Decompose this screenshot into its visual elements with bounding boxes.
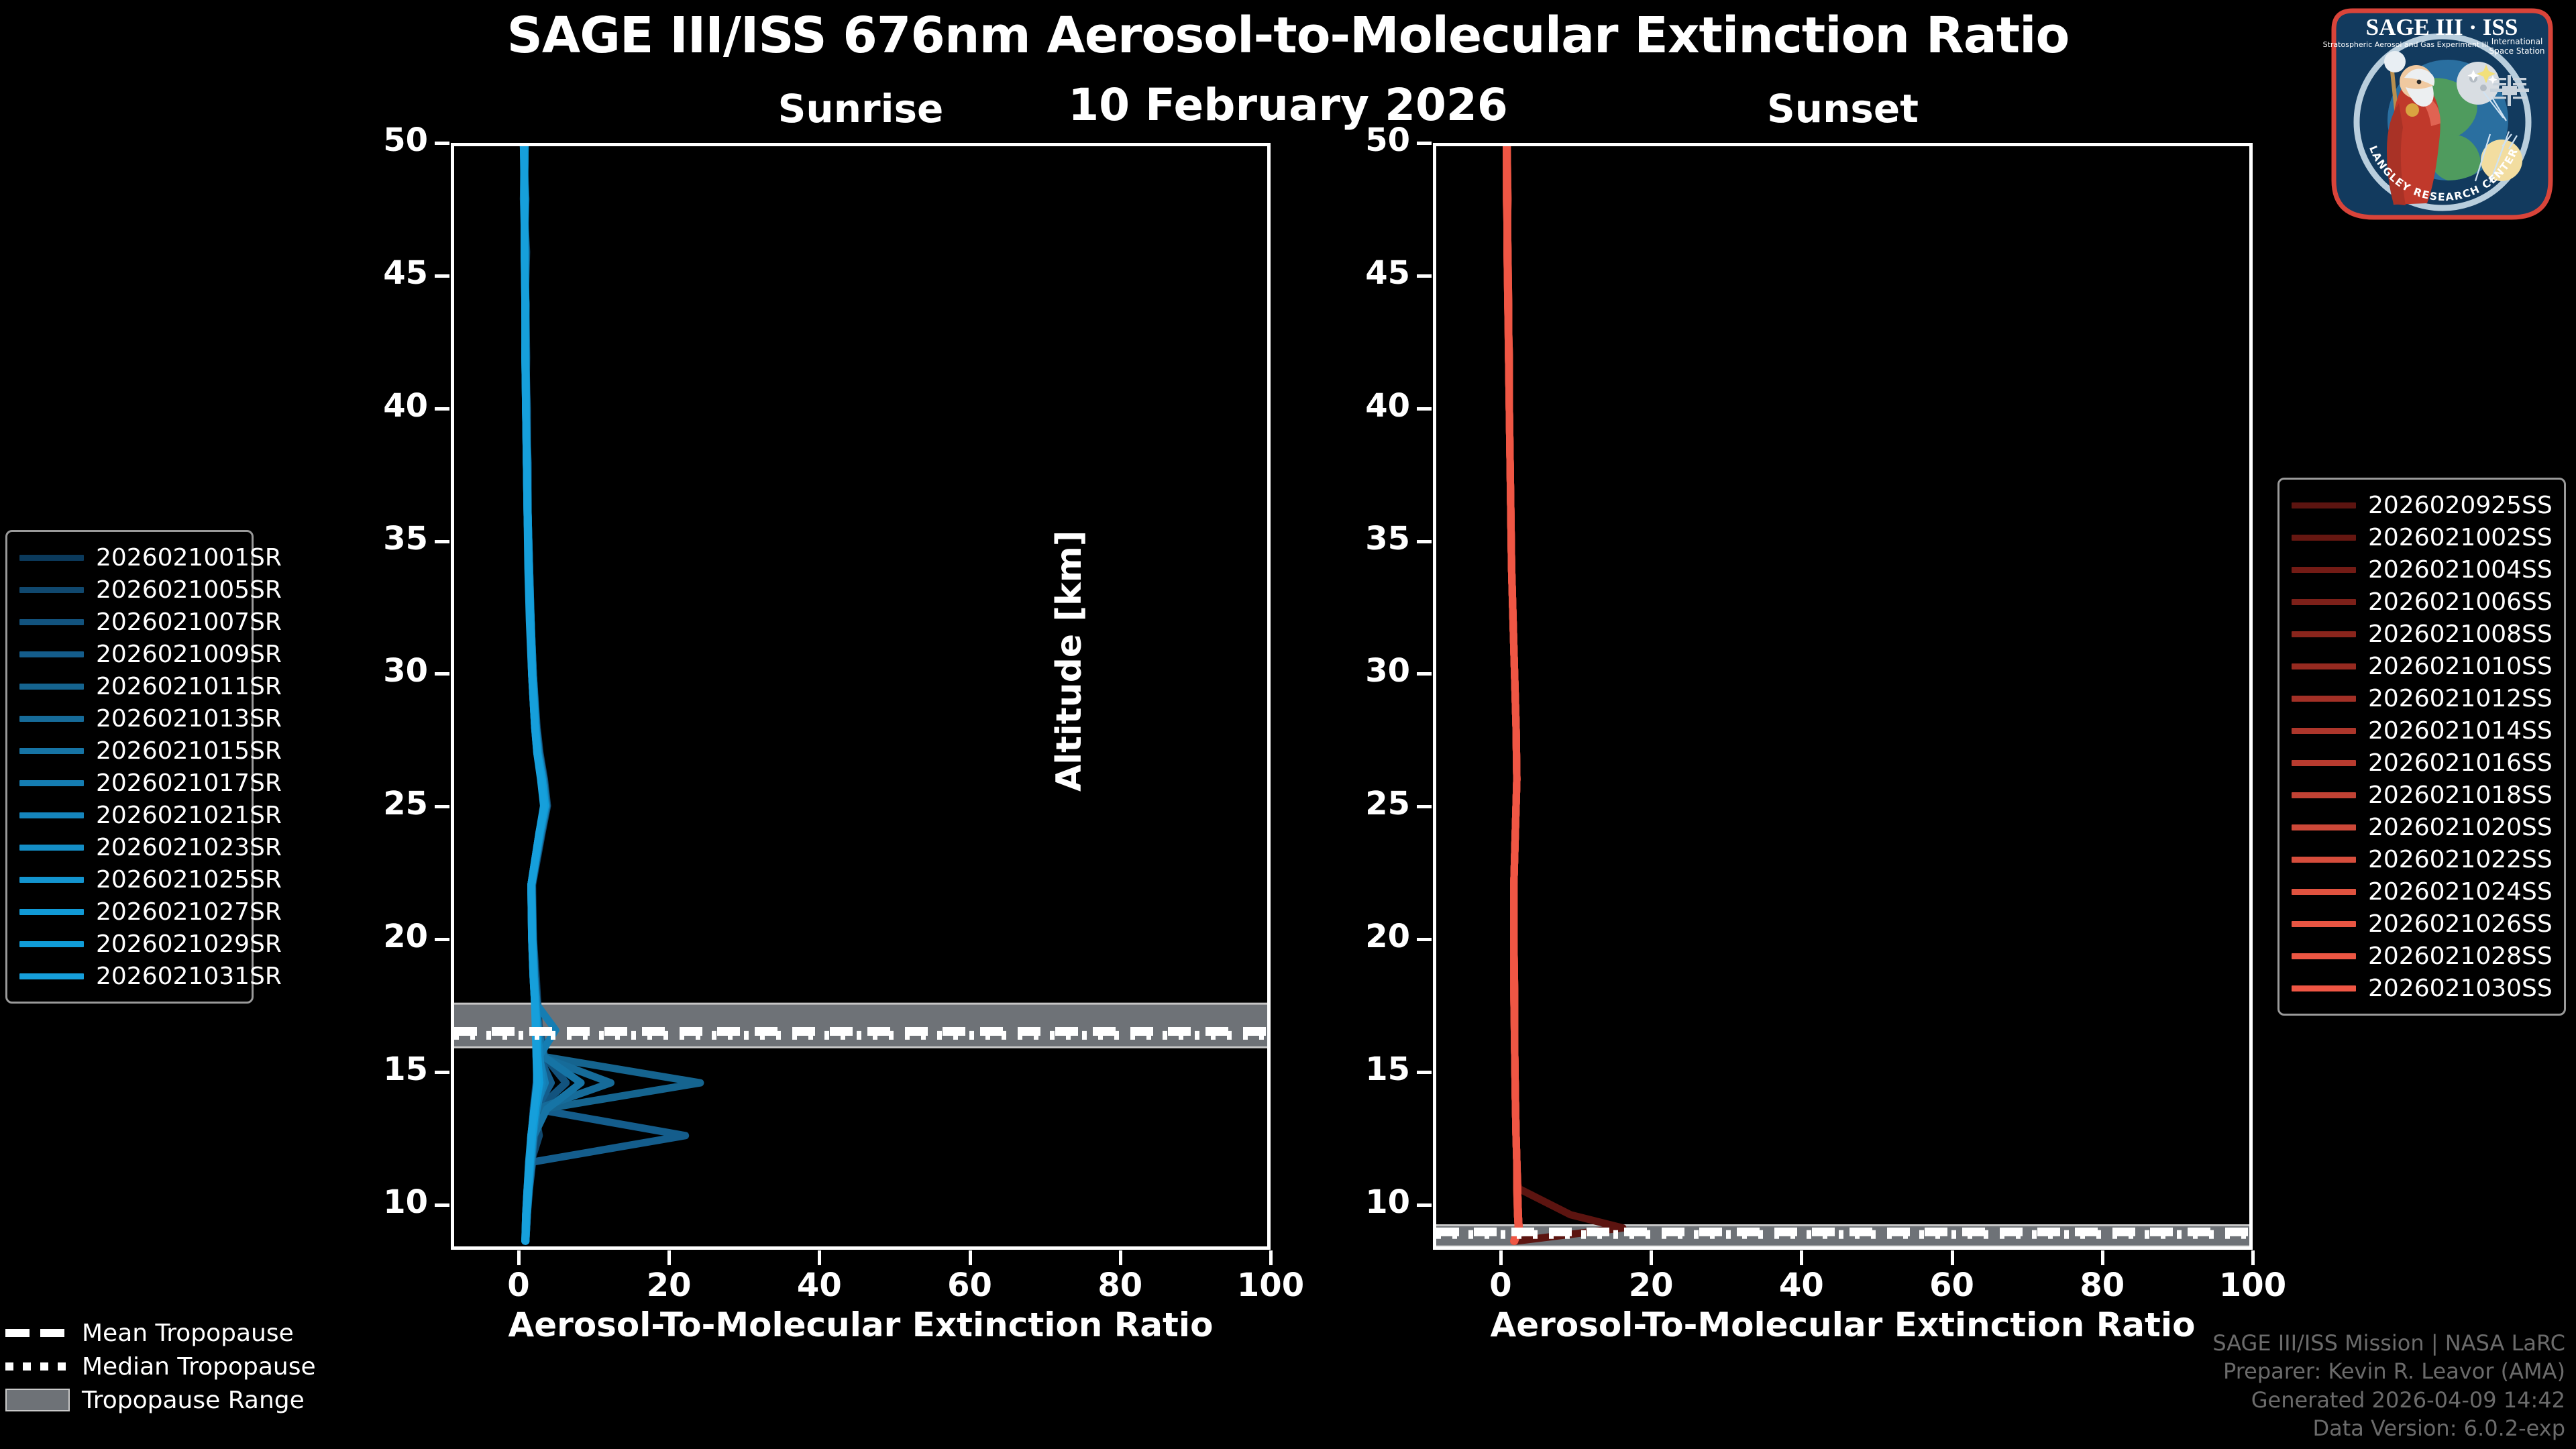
legend-row: 2026021006SS (2292, 586, 2552, 618)
legend-color-swatch (19, 587, 84, 593)
legend-color-swatch (2292, 696, 2356, 702)
range-swatch-icon (5, 1389, 70, 1411)
legend-color-swatch (2292, 535, 2356, 541)
tropopause-range-band (454, 1004, 1267, 1047)
legend-row: 2026021009SR (19, 638, 239, 670)
legend-row: 2026021015SR (19, 735, 239, 767)
y-axis-tick-mark (435, 672, 449, 676)
legend-row: 2026021031SR (19, 960, 239, 992)
legend-label-tropopause-range: Tropopause Range (82, 1387, 305, 1414)
legend-row: 2026021020SS (2292, 811, 2552, 843)
y-axis-tick-label: 50 (1309, 121, 1410, 159)
legend-color-swatch (2292, 567, 2356, 573)
footer-line-version: Data Version: 6.0.2-exp (2212, 1414, 2565, 1442)
legend-color-swatch (2292, 824, 2356, 830)
legend-row: 2026021011SR (19, 670, 239, 702)
legend-event-label: 2026021012SS (2368, 685, 2553, 712)
legend-color-swatch (19, 651, 84, 657)
legend-event-label: 2026021022SS (2368, 846, 2553, 873)
y-axis-tick-label: 10 (1309, 1183, 1410, 1221)
legend-event-label: 2026021011SR (96, 673, 282, 700)
legend-row: 2026021016SS (2292, 747, 2552, 779)
legend-event-label: 2026021031SR (96, 963, 282, 990)
y-axis-tick-mark (435, 407, 449, 411)
y-axis-tick-mark (435, 1203, 449, 1207)
x-axis-tick-label: 60 (1898, 1267, 2006, 1304)
legend-event-label: 2026021006SS (2368, 588, 2553, 616)
legend-color-swatch (2292, 663, 2356, 669)
legend-row: 2026021028SS (2292, 940, 2552, 972)
y-axis-tick-label: 20 (1309, 918, 1410, 955)
footer-line-preparer: Preparer: Kevin R. Leavor (AMA) (2212, 1357, 2565, 1385)
x-axis-tick-mark (1650, 1250, 1653, 1265)
page-title: SAGE III/ISS 676nm Aerosol-to-Molecular … (0, 7, 2576, 64)
legend-event-label: 2026021017SR (96, 769, 282, 797)
legend-color-swatch (19, 877, 84, 883)
legend-row: 2026021022SS (2292, 843, 2552, 875)
y-axis-tick-label: 40 (327, 387, 428, 425)
legend-event-label: 2026021018SS (2368, 782, 2553, 809)
legend-color-swatch (2292, 953, 2356, 959)
legend-row-tropopause-range: Tropopause Range (5, 1383, 294, 1417)
x-axis-tick-mark (1951, 1250, 1954, 1265)
legend-row: 2026021007SR (19, 606, 239, 638)
legend-color-swatch (19, 941, 84, 947)
footer-credits: SAGE III/ISS Mission | NASA LaRC Prepare… (2212, 1329, 2565, 1442)
sunset-plot-area (1433, 143, 2253, 1250)
legend-event-label: 2026021004SS (2368, 556, 2553, 584)
legend-row: 2026021018SS (2292, 779, 2552, 811)
x-axis-tick-label: 20 (615, 1267, 722, 1304)
legend-color-swatch (2292, 728, 2356, 734)
legend-event-label: 2026021023SR (96, 834, 282, 861)
y-axis-tick-mark (1417, 1071, 1432, 1074)
legend-event-label: 2026021025SR (96, 866, 282, 894)
x-axis-tick-label: 40 (765, 1267, 873, 1304)
x-axis-tick-mark (1119, 1250, 1122, 1265)
x-axis-tick-label: 0 (1447, 1267, 1554, 1304)
y-axis-tick-mark (1417, 274, 1432, 278)
y-axis-tick-label: 10 (327, 1183, 428, 1221)
legend-color-swatch (2292, 857, 2356, 863)
svg-text:International: International (2491, 37, 2543, 46)
sunset-panel-title: Sunset (1433, 86, 2253, 131)
legend-label-mean-tropopause: Mean Tropopause (82, 1320, 294, 1347)
legend-event-label: 2026021020SS (2368, 814, 2553, 841)
y-axis-tick-mark (1417, 672, 1432, 676)
legend-row: 2026021025SR (19, 863, 239, 896)
legend-color-swatch (19, 716, 84, 722)
legend-event-label: 2026021001SR (96, 544, 282, 572)
legend-row: 2026021008SS (2292, 618, 2552, 650)
legend-color-swatch (2292, 502, 2356, 508)
tropopause-legend: Mean Tropopause Median Tropopause Tropop… (5, 1316, 294, 1417)
legend-event-label: 2026021021SR (96, 802, 282, 829)
x-axis-tick-mark (1800, 1250, 1803, 1265)
sunset-y-axis-label: Altitude [km] (1049, 537, 1089, 792)
legend-color-swatch (19, 909, 84, 915)
legend-color-swatch (2292, 921, 2356, 927)
x-axis-tick-mark (818, 1250, 821, 1265)
y-axis-tick-mark (435, 274, 449, 278)
logo-subtitle-left: Stratospheric Aerosol and Gas Experiment… (2323, 40, 2489, 49)
legend-event-label: 2026021009SR (96, 641, 282, 668)
legend-event-label: 2026021015SR (96, 737, 282, 765)
x-axis-tick-mark (969, 1250, 972, 1265)
legend-event-label: 2026021028SS (2368, 943, 2553, 970)
footer-line-generated: Generated 2026-04-09 14:42 (2212, 1386, 2565, 1414)
x-axis-tick-mark (517, 1250, 521, 1265)
legend-event-label: 2026021013SR (96, 705, 282, 733)
legend-row-median-tropopause: Median Tropopause (5, 1350, 294, 1383)
x-axis-tick-label: 0 (465, 1267, 572, 1304)
x-axis-tick-label: 20 (1597, 1267, 1705, 1304)
legend-event-label: 2026021016SS (2368, 749, 2553, 777)
legend-event-label: 2026021010SS (2368, 653, 2553, 680)
legend-color-swatch (2292, 631, 2356, 637)
y-axis-tick-mark (435, 142, 449, 145)
x-axis-tick-mark (1269, 1250, 1273, 1265)
legend-event-label: 2026021007SR (96, 608, 282, 636)
y-axis-tick-mark (1417, 540, 1432, 543)
dotted-line-icon (5, 1362, 70, 1371)
legend-row: 2026021023SR (19, 831, 239, 863)
y-axis-tick-label: 25 (1309, 785, 1410, 822)
legend-event-label: 2026021005SR (96, 576, 282, 604)
y-axis-tick-mark (1417, 407, 1432, 411)
x-axis-tick-label: 100 (2199, 1267, 2306, 1304)
sunrise-x-axis-label: Aerosol-To-Molecular Extinction Ratio (451, 1305, 1271, 1344)
y-axis-tick-mark (1417, 142, 1432, 145)
x-axis-tick-label: 40 (1748, 1267, 1855, 1304)
legend-event-label: 2026021008SS (2368, 621, 2553, 648)
legend-event-label: 2026021024SS (2368, 878, 2553, 906)
y-axis-tick-label: 40 (1309, 387, 1410, 425)
legend-event-label: 2026021026SS (2368, 910, 2553, 938)
legend-row: 2026021021SR (19, 799, 239, 831)
legend-event-label: 2026021027SR (96, 898, 282, 926)
y-axis-tick-label: 15 (1309, 1051, 1410, 1088)
legend-row: 2026021017SR (19, 767, 239, 799)
x-axis-tick-mark (2101, 1250, 2104, 1265)
legend-color-swatch (19, 780, 84, 786)
x-axis-tick-label: 60 (916, 1267, 1024, 1304)
legend-color-swatch (2292, 599, 2356, 605)
y-axis-tick-label: 30 (1309, 652, 1410, 690)
profile-line (1507, 146, 1623, 1241)
y-axis-tick-mark (1417, 1203, 1432, 1207)
legend-row-mean-tropopause: Mean Tropopause (5, 1316, 294, 1350)
legend-color-swatch (2292, 792, 2356, 798)
legend-row: 2026021024SS (2292, 875, 2552, 908)
legend-color-swatch (19, 555, 84, 561)
legend-row: 2026021001SR (19, 541, 239, 574)
legend-row: 2026021026SS (2292, 908, 2552, 940)
sunrise-legend: 2026021001SR2026021005SR2026021007SR2026… (5, 530, 254, 1004)
y-axis-tick-label: 35 (327, 520, 428, 557)
legend-event-label: 2026020925SS (2368, 492, 2553, 519)
x-axis-tick-mark (667, 1250, 671, 1265)
y-axis-tick-mark (1417, 938, 1432, 941)
legend-color-swatch (2292, 889, 2356, 895)
y-axis-tick-label: 30 (327, 652, 428, 690)
legend-event-label: 2026021030SS (2368, 975, 2553, 1002)
y-axis-tick-mark (435, 540, 449, 543)
y-axis-tick-label: 45 (327, 254, 428, 292)
dashed-line-icon (5, 1329, 70, 1337)
y-axis-tick-label: 50 (327, 121, 428, 159)
footer-line-mission: SAGE III/ISS Mission | NASA LaRC (2212, 1329, 2565, 1357)
x-axis-tick-label: 80 (2049, 1267, 2156, 1304)
legend-color-swatch (19, 973, 84, 979)
legend-row: 2026021005SR (19, 574, 239, 606)
legend-row: 2026020925SS (2292, 489, 2552, 521)
legend-event-label: 2026021029SR (96, 930, 282, 958)
sunrise-plot-area (451, 143, 1271, 1250)
x-axis-tick-mark (1499, 1250, 1503, 1265)
legend-label-median-tropopause: Median Tropopause (82, 1353, 316, 1381)
y-axis-tick-label: 45 (1309, 254, 1410, 292)
y-axis-tick-mark (435, 1071, 449, 1074)
y-axis-tick-label: 35 (1309, 520, 1410, 557)
legend-row: 2026021027SR (19, 896, 239, 928)
profile-line (1507, 146, 1519, 1241)
legend-row: 2026021004SS (2292, 553, 2552, 586)
y-axis-tick-mark (435, 805, 449, 808)
legend-row: 2026021014SS (2292, 714, 2552, 747)
legend-color-swatch (19, 748, 84, 754)
legend-event-label: 2026021014SS (2368, 717, 2553, 745)
sunset-legend: 2026020925SS2026021002SS2026021004SS2026… (2277, 478, 2566, 1016)
legend-event-label: 2026021002SS (2368, 524, 2553, 551)
legend-color-swatch (19, 684, 84, 690)
y-axis-tick-mark (435, 938, 449, 941)
y-axis-tick-mark (1417, 805, 1432, 808)
legend-color-swatch (19, 619, 84, 625)
sage-iii-iss-mission-patch-icon: SAGE III · ISS Stratospheric Aerosol and… (2310, 3, 2572, 224)
legend-color-swatch (2292, 985, 2356, 991)
legend-row: 2026021029SR (19, 928, 239, 960)
legend-color-swatch (19, 845, 84, 851)
legend-row: 2026021002SS (2292, 521, 2552, 553)
legend-color-swatch (2292, 760, 2356, 766)
y-axis-tick-label: 25 (327, 785, 428, 822)
x-axis-tick-mark (2251, 1250, 2255, 1265)
x-axis-tick-label: 100 (1217, 1267, 1324, 1304)
sunset-x-axis-label: Aerosol-To-Molecular Extinction Ratio (1433, 1305, 2253, 1344)
y-axis-tick-label: 20 (327, 918, 428, 955)
legend-row: 2026021012SS (2292, 682, 2552, 714)
svg-text:Space Station: Space Station (2489, 46, 2544, 56)
legend-color-swatch (19, 812, 84, 818)
x-axis-tick-label: 80 (1067, 1267, 1174, 1304)
legend-row: 2026021030SS (2292, 972, 2552, 1004)
sunrise-panel-title: Sunrise (451, 86, 1271, 131)
legend-row: 2026021013SR (19, 702, 239, 735)
legend-row: 2026021010SS (2292, 650, 2552, 682)
y-axis-tick-label: 15 (327, 1051, 428, 1088)
